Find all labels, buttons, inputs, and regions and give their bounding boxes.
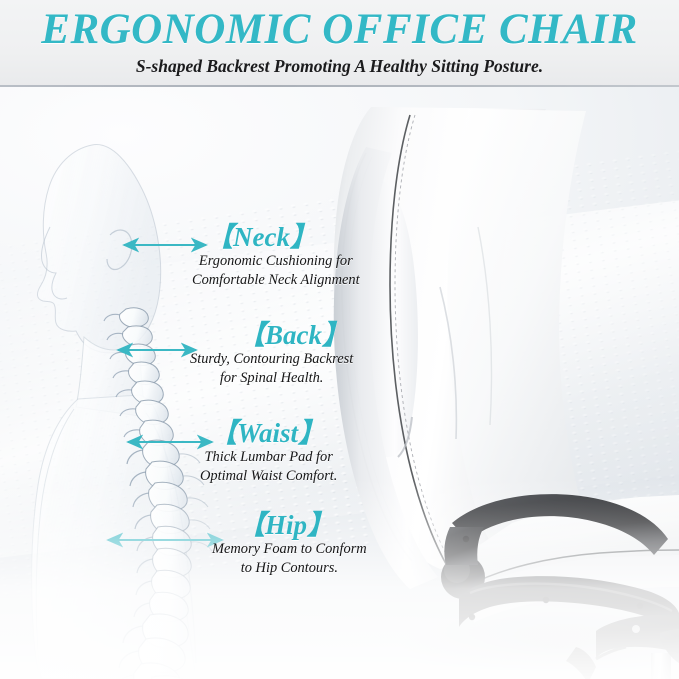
floor-glow [0, 478, 679, 679]
callout-back-desc-line1: Sturdy, Contouring Backrest [190, 350, 353, 369]
callout-waist-desc-line1: Thick Lumbar Pad for [200, 448, 337, 467]
callout-hip-desc-line1: Memory Foam to Conform [212, 540, 367, 559]
callout-neck-desc-line2: Comfortable Neck Alignment [192, 271, 360, 290]
callout-neck: 【Neck】 Ergonomic Cushioning for Comforta… [192, 222, 360, 290]
callout-back: 【Back】 Sturdy, Contouring Backrest for S… [190, 320, 353, 388]
callout-back-label: 【Back】 [190, 320, 353, 350]
callout-neck-label: 【Neck】 [192, 222, 360, 252]
callout-hip-desc-line2: to Hip Contours. [212, 559, 367, 578]
callout-back-desc-line2: for Spinal Health. [190, 369, 353, 388]
callout-waist-label: 【Waist】 [200, 418, 337, 448]
infographic-page: ERGONOMIC OFFICE CHAIR S-shaped Backrest… [0, 0, 679, 679]
callout-hip-label: 【Hip】 [212, 510, 367, 540]
callout-waist: 【Waist】 Thick Lumbar Pad for Optimal Wai… [200, 418, 337, 486]
callout-waist-desc-line2: Optimal Waist Comfort. [200, 467, 337, 486]
page-title: ERGONOMIC OFFICE CHAIR [0, 7, 679, 53]
header-banner: ERGONOMIC OFFICE CHAIR S-shaped Backrest… [0, 0, 679, 87]
page-subtitle: S-shaped Backrest Promoting A Healthy Si… [0, 55, 679, 77]
callout-neck-desc-line1: Ergonomic Cushioning for [192, 252, 360, 271]
callout-hip: 【Hip】 Memory Foam to Conform to Hip Cont… [212, 510, 367, 578]
